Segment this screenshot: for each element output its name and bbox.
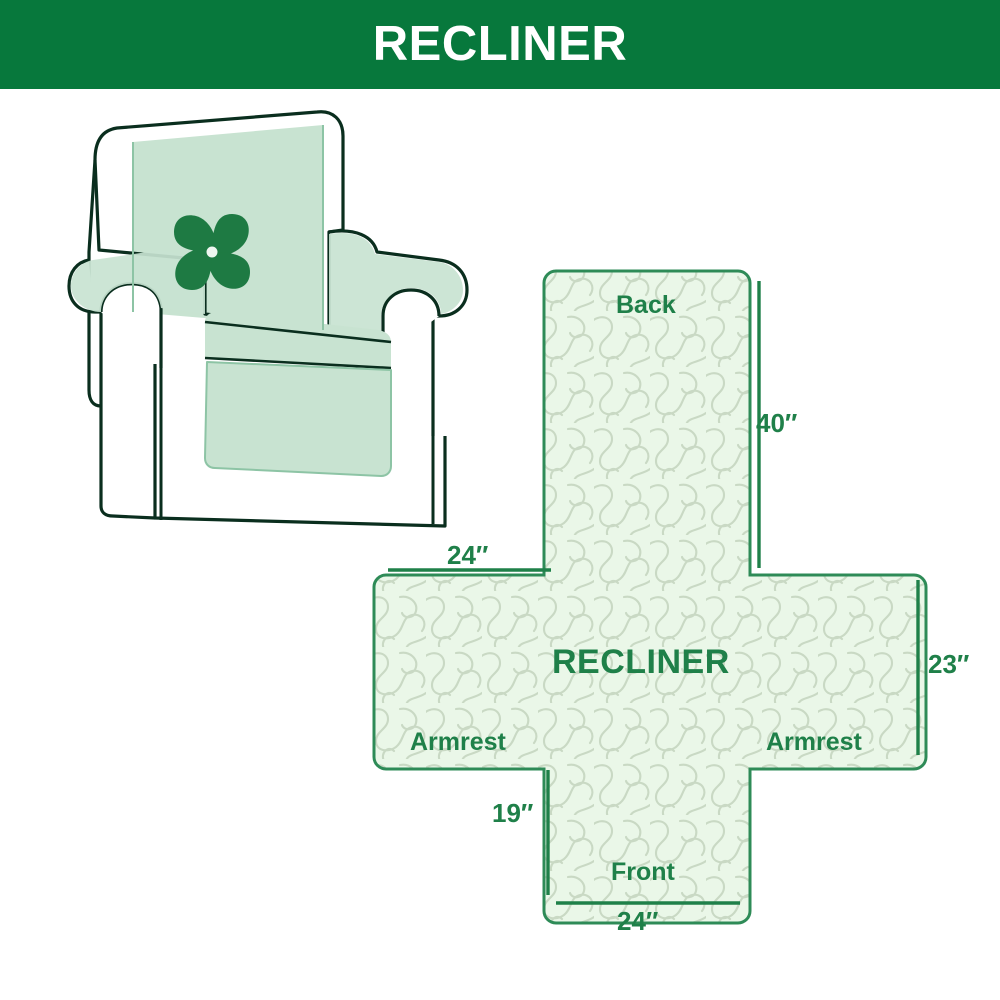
dimension-value-armrest-depth: 23″ bbox=[928, 651, 969, 677]
slipcover-pattern-diagram bbox=[370, 255, 1000, 945]
section-label-front: Front bbox=[611, 860, 675, 885]
header-bar: RECLINER bbox=[0, 0, 1000, 89]
page-title: RECLINER bbox=[373, 20, 627, 69]
section-label-back: Back bbox=[616, 293, 676, 318]
diagram-center-label: RECLINER bbox=[552, 645, 730, 679]
dimension-value-back-height: 40″ bbox=[756, 410, 797, 436]
dimension-value-armrest-width: 24″ bbox=[447, 542, 488, 568]
chair-left-armrest-inner bbox=[101, 284, 161, 368]
section-label-armrest-right: Armrest bbox=[766, 730, 862, 755]
cover-front-skirt bbox=[205, 362, 391, 476]
cross-fill bbox=[370, 255, 1000, 945]
section-label-armrest-left: Armrest bbox=[410, 730, 506, 755]
product-dimension-infographic: RECLINER bbox=[0, 0, 1000, 1000]
chair-base-left bbox=[101, 406, 155, 518]
cross-pattern-svg bbox=[370, 255, 1000, 945]
dimension-value-front-height: 19″ bbox=[492, 800, 533, 826]
dimension-value-front-width: 24″ bbox=[617, 908, 658, 934]
